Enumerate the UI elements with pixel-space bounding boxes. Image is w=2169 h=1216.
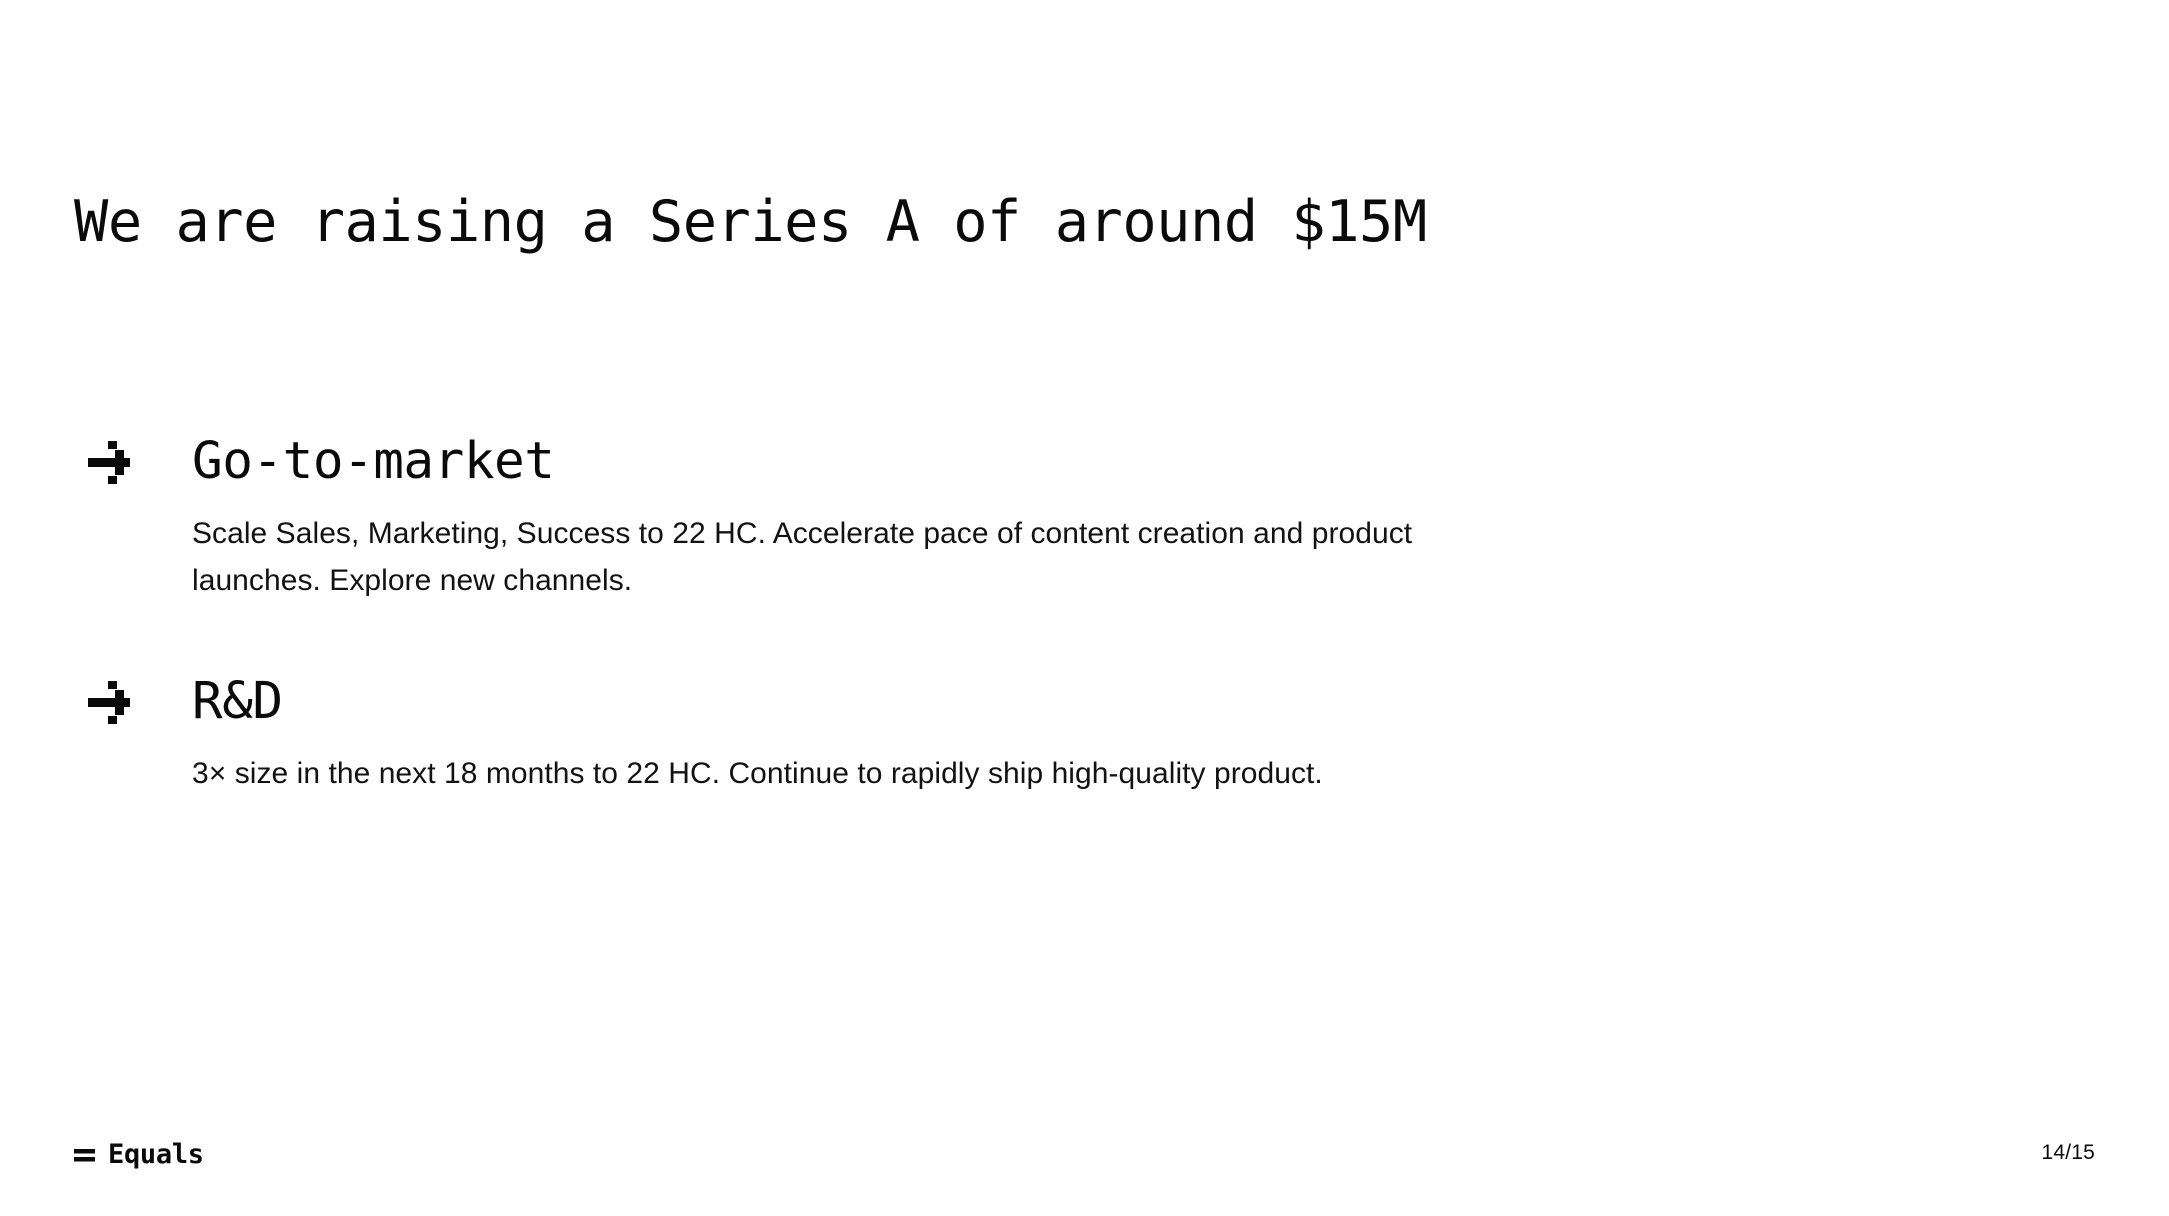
section-list: Go-to-market Scale Sales, Marketing, Suc… — [74, 430, 1674, 797]
pixel-arrow-right-icon — [88, 440, 132, 484]
section-go-to-market: Go-to-market Scale Sales, Marketing, Suc… — [74, 430, 1674, 604]
presentation-slide: We are raising a Series A of around $15M… — [0, 0, 2169, 1216]
pixel-arrow-right-icon — [88, 680, 132, 724]
section-heading: Go-to-market — [192, 434, 554, 490]
section-heading: R&D — [192, 674, 283, 730]
section-body-text: 3× size in the next 18 months to 22 HC. … — [192, 750, 1492, 797]
brand-name: Equals — [108, 1141, 204, 1168]
section-header: Go-to-market — [74, 430, 1674, 494]
equals-bars-icon — [74, 1145, 95, 1165]
section-body-text: Scale Sales, Marketing, Success to 22 HC… — [192, 510, 1492, 604]
brand-logo: Equals — [74, 1141, 204, 1168]
page-indicator: 14/15 — [2041, 1142, 2095, 1163]
page-title: We are raising a Series A of around $15M — [74, 190, 1427, 256]
section-header: R&D — [74, 670, 1674, 734]
section-r-and-d: R&D 3× size in the next 18 months to 22 … — [74, 670, 1674, 797]
